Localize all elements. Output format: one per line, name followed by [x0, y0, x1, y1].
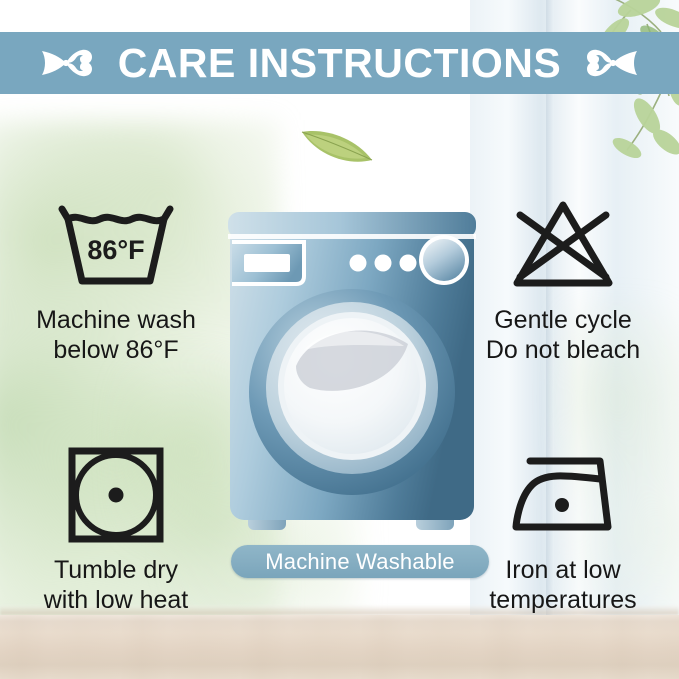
iron-one-dot-icon: [504, 449, 622, 541]
triangle-crossed-no-bleach-icon: [508, 197, 618, 293]
washing-machine-illustration: [218, 196, 486, 541]
wash-tub-icon-wrapper: 86°F: [54, 192, 178, 298]
care-symbol-gentle-cycle-no-bleach: Gentle cycle Do not bleach: [453, 192, 673, 365]
no-bleach-icon-wrapper: [508, 192, 618, 298]
washer-program-knob: [423, 239, 465, 281]
care-symbol-machine-wash: 86°F Machine wash below 86°F: [6, 192, 226, 365]
care-symbol-iron-low: Iron at low temperatures: [453, 442, 673, 615]
care-symbol-label: Gentle cycle Do not bleach: [486, 306, 640, 365]
floating-leaf-icon: [298, 122, 376, 168]
care-symbol-tumble-dry-low: Tumble dry with low heat: [6, 442, 226, 615]
tumble-dry-icon-wrapper: [66, 442, 166, 548]
page-title: CARE INSTRUCTIONS: [118, 43, 562, 84]
washer-control-dot: [350, 255, 367, 272]
iron-icon-wrapper: [504, 442, 622, 548]
washer-control-dot: [400, 255, 417, 272]
washer-drawer-slot: [244, 254, 290, 272]
fleuron-ornament-right-icon: [583, 41, 643, 85]
care-symbol-label: Iron at low temperatures: [489, 556, 636, 615]
washer-control-dot: [375, 255, 392, 272]
care-symbol-label: Machine wash below 86°F: [36, 306, 196, 365]
status-badge: Machine Washable: [231, 545, 489, 578]
wash-temperature-value: 86°F: [87, 235, 144, 265]
status-badge-label: Machine Washable: [265, 551, 454, 573]
wood-surface: [0, 615, 679, 679]
wash-tub-icon: 86°F: [54, 197, 178, 293]
care-instructions-poster: CARE INSTRUCTIONS 86°F Machine wash belo…: [0, 0, 679, 679]
banner: CARE INSTRUCTIONS: [0, 32, 679, 94]
fleuron-ornament-left-icon: [36, 41, 96, 85]
tumble-dry-low-icon: [66, 445, 166, 545]
care-symbol-label: Tumble dry with low heat: [44, 556, 189, 615]
